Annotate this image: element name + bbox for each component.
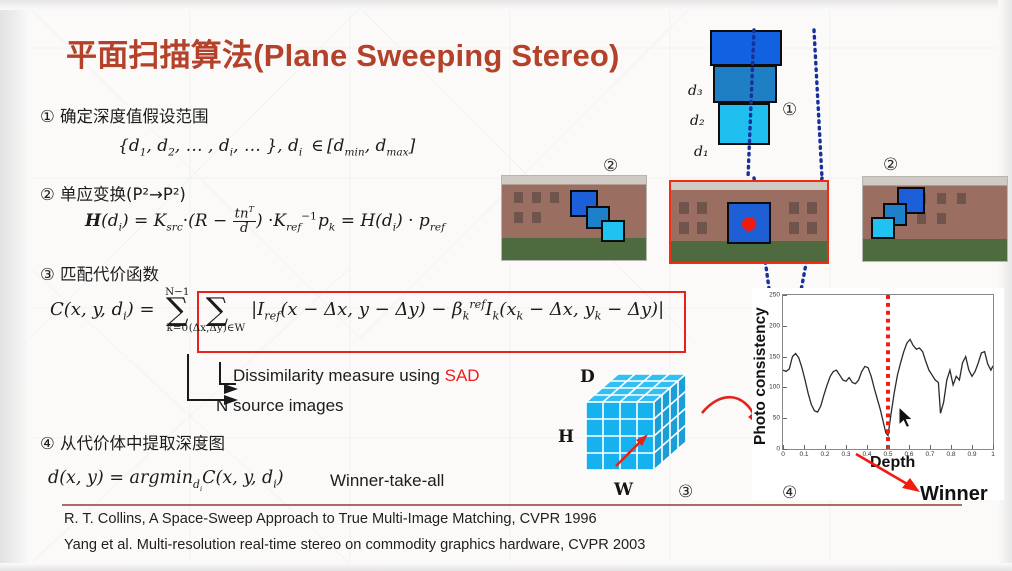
chart-x-tick-label: 0.8 bbox=[946, 449, 955, 458]
callout-dissimilarity: Dissimilarity measure using SAD bbox=[233, 366, 480, 386]
slide-edge-bottom bbox=[0, 563, 1012, 571]
equation-homography: H(di) = Ksrc·(R − tnTd) ·Kref−1 bbox=[85, 206, 317, 237]
reference-point-marker bbox=[742, 217, 756, 231]
chart-y-tick-label: 250 bbox=[769, 292, 783, 299]
chart-y-tick-mark bbox=[783, 295, 787, 296]
chart-x-tick-label: 0.3 bbox=[841, 449, 850, 458]
marker-two-left: ② bbox=[603, 156, 618, 176]
warped-patch-d1 bbox=[601, 220, 625, 242]
inner-sum-symbol: ∑ (Δx,Δy)∈W bbox=[206, 299, 229, 321]
chart-x-tick-label: 1 bbox=[991, 449, 995, 458]
slide-edge-left bbox=[0, 0, 30, 571]
outer-sum-symbol: ∑ N−1k=0 bbox=[166, 299, 189, 321]
marker-two-right: ② bbox=[883, 155, 898, 175]
chart-x-tick-mark bbox=[825, 445, 826, 449]
slide-canvas: 平面扫描算法(Plane Sweeping Stereo) ① 确定深度值假设范… bbox=[0, 0, 1012, 571]
warped-patch-d1 bbox=[871, 217, 895, 239]
chart-x-tick-label: 0.2 bbox=[820, 449, 829, 458]
chart-x-tick-mark bbox=[867, 445, 868, 449]
source-image-right bbox=[862, 176, 1008, 262]
chart-x-tick-label: 0.9 bbox=[967, 449, 976, 458]
sad-label: SAD bbox=[445, 366, 480, 385]
chart-x-tick-mark bbox=[930, 445, 931, 449]
chart-y-axis-label: Photo consistency bbox=[750, 296, 772, 456]
reference-item: R. T. Collins, A Space-Sweep Approach to… bbox=[64, 511, 597, 527]
chart-y-tick-label: 150 bbox=[769, 353, 783, 360]
chart-plot-area: 050100150200250 00.10.20.30.40.50.60.70.… bbox=[782, 294, 994, 450]
step-4-heading: ④ 从代价体中提取深度图 bbox=[40, 430, 225, 454]
svg-text:W: W bbox=[613, 480, 634, 500]
equation-depth-set: {d1, d2, … , di, … }, di ∈ [dmin, dmax] bbox=[118, 136, 415, 158]
chart-y-tick-label: 200 bbox=[769, 322, 783, 329]
reference-divider bbox=[62, 504, 962, 506]
page-title: 平面扫描算法(Plane Sweeping Stereo) bbox=[66, 30, 620, 75]
equation-projection: pk = H(di) · pref bbox=[318, 211, 445, 233]
chart-x-tick-label: 0.1 bbox=[799, 449, 808, 458]
chart-y-tick-mark bbox=[783, 357, 787, 358]
source-image-left bbox=[501, 175, 647, 261]
callout-dissimilarity-text: Dissimilarity measure using bbox=[233, 366, 445, 385]
step-3-heading: ③ 匹配代价函数 bbox=[40, 261, 159, 285]
reference-item: Yang et al. Multi-resolution real-time s… bbox=[64, 537, 645, 553]
building-photo bbox=[502, 176, 646, 260]
chart-y-tick-mark bbox=[783, 326, 787, 327]
marker-three: ③ bbox=[678, 482, 693, 502]
marker-four: ④ bbox=[782, 483, 797, 503]
chart-x-tick-mark bbox=[846, 445, 847, 449]
chart-y-tick-mark bbox=[783, 418, 787, 419]
chart-x-tick-mark bbox=[909, 445, 910, 449]
equation-cost-function: C(x, y, di) = ∑ N−1k=0 ∑ (Δx,Δy)∈W |Iref… bbox=[50, 298, 664, 323]
chart-y-tick-label: 100 bbox=[769, 384, 783, 391]
winner-take-all-label: Winner-take-all bbox=[330, 471, 444, 491]
chart-x-tick-mark bbox=[951, 445, 952, 449]
chart-x-tick-mark bbox=[804, 445, 805, 449]
chart-y-tick-mark bbox=[783, 387, 787, 388]
callout-sources: N source images bbox=[216, 396, 344, 416]
chart-x-tick-mark bbox=[783, 445, 784, 449]
svg-text:H: H bbox=[558, 427, 574, 447]
chart-x-tick-label: 0 bbox=[781, 449, 785, 458]
chart-x-tick-mark bbox=[993, 445, 994, 449]
chart-x-tick-mark bbox=[972, 445, 973, 449]
chart-x-tick-mark bbox=[888, 445, 889, 449]
slide-edge-top bbox=[0, 0, 1012, 10]
step-1-heading: ① 确定深度值假设范围 bbox=[40, 103, 209, 127]
reference-image bbox=[669, 180, 829, 264]
chart-y-tick-label: 50 bbox=[773, 415, 783, 422]
chart-winner-line bbox=[783, 295, 993, 449]
marker-one: ① bbox=[782, 100, 797, 120]
mouse-cursor-icon bbox=[897, 406, 919, 432]
svg-text:D: D bbox=[580, 367, 595, 387]
winner-label: Winner bbox=[920, 483, 988, 506]
step-2-heading: ② 单应变换(P²→P²) bbox=[40, 181, 186, 205]
equation-argmin: d(x, y) = argmindiC(x, y, di) bbox=[48, 468, 284, 493]
